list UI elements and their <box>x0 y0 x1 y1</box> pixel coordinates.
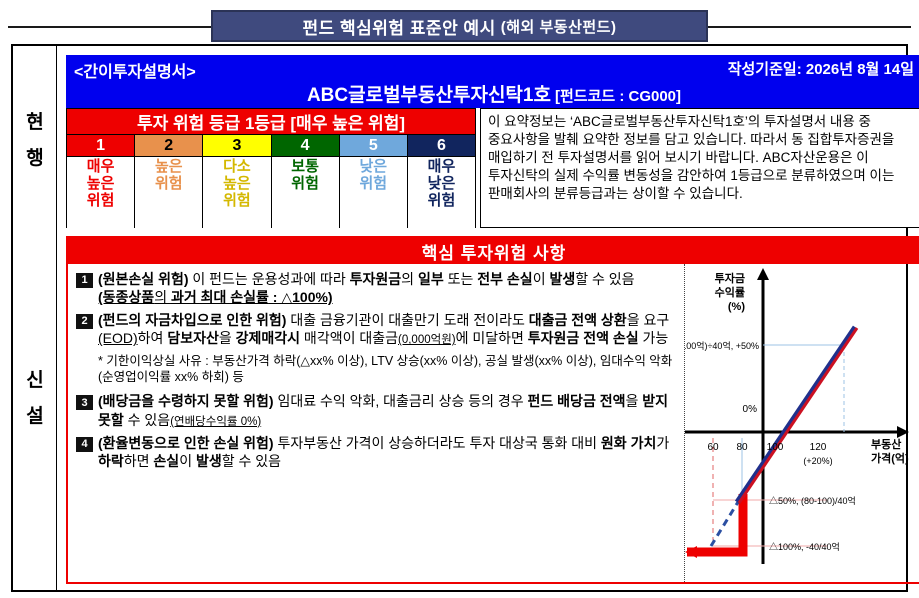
risk-text-run: 할 수 있음 <box>222 453 281 469</box>
payoff-chart-svg: 투자금 수익률 (%) 부동산 가격(억) 0% 60 80 100 120 <box>685 264 919 580</box>
fund-code: [펀드코드 : CG000] <box>555 88 681 105</box>
risk-text-run: 의 <box>154 289 171 305</box>
risk-item-text: (환율변동으로 인한 손실 위험) 투자부동산 가격이 상승하더라도 투자 대상… <box>98 434 678 471</box>
risk-grade-column-4: 4보통위험 <box>272 135 340 228</box>
gutter-label-new-1: 신 <box>13 366 57 396</box>
risk-text-run: 을 요구 <box>627 312 670 328</box>
risk-item-number: 1 <box>76 273 93 288</box>
chart-ylabel-line-1: 투자금 <box>715 271 745 285</box>
chart-xlabel-line-2: 가격(억) <box>871 451 909 465</box>
summary-text: 이 요약정보는 ‘ABC글로벌부동산투자신탁1호’의 투자설명서 내용 중 중요… <box>488 113 915 203</box>
chart-annotation-1: △50%, (80-100)/40억 <box>769 495 856 506</box>
risk-grade-label-line: 매우 <box>87 159 115 176</box>
payoff-chart: 투자금 수익률 (%) 부동산 가격(억) 0% 60 80 100 120 <box>685 264 919 582</box>
risk-text-run: 대출금 전액 상환 <box>529 312 627 328</box>
core-risk-box: 핵심 투자위험 사항 1(원본손실 위험) 이 펀드는 운용성과에 따라 투자원… <box>66 236 919 584</box>
risk-text-run: 투자원금 <box>350 271 402 287</box>
risk-text-run: 발생 <box>196 453 222 469</box>
risk-text-run: 에 미달하면 <box>456 330 528 346</box>
chart-series-dashed <box>711 502 738 546</box>
risk-grade-number-6: 6 <box>408 135 475 157</box>
risk-grade-label-line: 위험 <box>359 176 387 193</box>
risk-text-run: 가능 <box>639 330 669 346</box>
risk-text-run: 하여 <box>138 330 168 346</box>
risk-grade-label-line: 위험 <box>87 193 115 210</box>
risk-text-run: 강제매각시 <box>236 330 300 346</box>
risk-text-run: 이 펀드는 운용성과에 따라 <box>192 271 349 287</box>
risk-grade-label-line: 위험 <box>428 193 456 210</box>
risk-grade-column-2: 2높은위험 <box>135 135 203 228</box>
risk-item: 4(환율변동으로 인한 손실 위험) 투자부동산 가격이 상승하더라도 투자 대… <box>76 434 678 471</box>
chart-annotation-2: △100%, -40/40억 <box>769 541 840 552</box>
risk-grade-number-2: 2 <box>135 135 202 157</box>
risk-item-text: (펀드의 자금차입으로 인한 위험) 대출 금융기관이 대출만기 도래 전이라도… <box>98 311 678 349</box>
risk-text-run: (동종상품 <box>98 289 154 305</box>
risk-text-run: : △100%) <box>269 289 333 305</box>
fund-header: <간이투자설명서> 작성기준일: 2026년 8월 14일 ABC글로벌부동산투… <box>66 55 919 108</box>
risk-grade-label-5: 낮은위험 <box>340 157 407 228</box>
core-risk-title: 핵심 투자위험 사항 <box>68 238 919 264</box>
risk-grade-column-6: 6매우낮은위험 <box>408 135 475 228</box>
risk-grade-label-3: 다소높은위험 <box>203 157 270 228</box>
risk-text-run: 을 <box>219 330 236 346</box>
risk-text-run: 이 <box>179 453 196 469</box>
risk-text-run: 발생 <box>549 271 575 287</box>
risk-grade-column-5: 5낮은위험 <box>340 135 408 228</box>
risk-text-run: 대출 금융기관이 대출만기 도래 전이라도 <box>290 312 528 328</box>
risk-text-run: 매각액이 대출금 <box>300 330 398 346</box>
risk-items-group-2: 3(배당금을 수령하지 못할 위험) 임대료 수익 악화, 대출금리 상승 등의… <box>76 392 678 471</box>
risk-grade-label-line: 위험 <box>223 193 251 210</box>
top-banner-row: 펀드 핵심위험 표준안 예시 (해외 부동산펀드) <box>0 10 919 42</box>
risk-text-run: 또는 <box>444 271 478 287</box>
page-title-banner: 펀드 핵심위험 표준안 예시 (해외 부동산펀드) <box>211 10 708 42</box>
chart-y-axis-arrow <box>757 268 769 280</box>
risk-grade-label-line: 낮은 <box>428 176 456 193</box>
risk-item-text: (원본손실 위험) 이 펀드는 운용성과에 따라 투자원금의 일부 또는 전부 … <box>98 270 678 307</box>
chart-xtick-0: 60 <box>707 442 719 453</box>
risk-text-run: (EOD) <box>98 330 138 346</box>
chart-origin-label: 0% <box>743 404 758 415</box>
risk-text-run: (환율변동으로 인한 손실 위험) <box>98 435 277 451</box>
document-type-label: <간이투자설명서> <box>74 58 196 82</box>
risk-text-run: 임대료 수익 악화, 대출금리 상승 등의 경우 <box>277 393 527 409</box>
risk-grade-label-line: 위험 <box>291 176 319 193</box>
risk-text-run: 할 수 있음 <box>575 271 634 287</box>
gutter-label-new-2: 설 <box>13 402 57 432</box>
summary-panel: 이 요약정보는 ‘ABC글로벌부동산투자신탁1호’의 투자설명서 내용 중 중요… <box>480 108 919 228</box>
page-title-sub: (해외 부동산펀드) <box>501 16 617 37</box>
chart-x-axis-arrow <box>897 426 909 438</box>
risk-grade-table: 1매우높은위험2높은위험3다소높은위험4보통위험5낮은위험6매우낮은위험 <box>67 135 475 228</box>
risk-item: 2(펀드의 자금차입으로 인한 위험) 대출 금융기관이 대출만기 도래 전이라… <box>76 311 678 349</box>
chart-ylabel-line-3: (%) <box>728 301 745 313</box>
risk-grade-label-line: 보통 <box>291 159 319 176</box>
risk-grade-column-3: 3다소높은위험 <box>203 135 271 228</box>
risk-grade-number-3: 3 <box>203 135 270 157</box>
risk-grade-title: 투자 위험 등급 1등급 [매우 높은 위험] <box>67 109 475 135</box>
risk-grade-number-5: 5 <box>340 135 407 157</box>
risk-text-run: 의 <box>401 271 418 287</box>
core-risk-body: 1(원본손실 위험) 이 펀드는 운용성과에 따라 투자원금의 일부 또는 전부… <box>68 264 919 582</box>
chart-xtick-1: 80 <box>736 442 748 453</box>
risk-grade-label-line: 매우 <box>428 159 456 176</box>
risk-text-run: 전부 손실 <box>477 271 532 287</box>
chart-loss-bracket <box>687 494 743 552</box>
page-title-main: 펀드 핵심위험 표준안 예시 <box>303 14 496 39</box>
risk-footnote: * 기한이익상실 사유 : 부동산가격 하락(△xx% 이상), LTV 상승(… <box>98 353 678 387</box>
risk-item-number: 2 <box>76 314 93 329</box>
risk-text-run: 수 있음 <box>124 412 170 428</box>
risk-text-run: 가 <box>656 435 669 451</box>
risk-grade-label-6: 매우낮은위험 <box>408 157 475 228</box>
risk-grade-label-line: 위험 <box>155 176 183 193</box>
risk-item-text: (배당금을 수령하지 못할 위험) 임대료 수익 악화, 대출금리 상승 등의 … <box>98 392 678 430</box>
risk-grade-label-2: 높은위험 <box>135 157 202 228</box>
section-gutter: 현 행 신 설 <box>13 46 57 590</box>
gutter-label-current-2: 행 <box>13 144 57 174</box>
fund-name-row: ABC글로벌부동산투자신탁1호[펀드코드 : CG000] <box>66 80 919 107</box>
core-risk-list: 1(원본손실 위험) 이 펀드는 운용성과에 따라 투자원금의 일부 또는 전부… <box>68 264 685 582</box>
risk-text-run: (연배당수익률 0%) <box>170 416 261 428</box>
risk-grade-column-1: 1매우높은위험 <box>67 135 135 228</box>
risk-text-run: 원화 가치 <box>601 435 656 451</box>
risk-grade-number-4: 4 <box>272 135 339 157</box>
chart-xtick-3: 120 <box>810 442 827 453</box>
risk-text-run: 펀드 배당금 전액 <box>528 393 626 409</box>
banner-rule-left <box>8 26 211 28</box>
risk-text-run: 일부 <box>418 271 444 287</box>
chart-xlabel-line-1: 부동산 <box>871 437 901 451</box>
risk-grade-label-4: 보통위험 <box>272 157 339 228</box>
risk-grade-label-line: 다소 <box>223 159 251 176</box>
risk-text-run: 과거 최대 손실률 <box>171 289 269 305</box>
risk-items-group-1: 1(원본손실 위험) 이 펀드는 운용성과에 따라 투자원금의 일부 또는 전부… <box>76 270 678 349</box>
risk-grade-label-line: 높은 <box>155 159 183 176</box>
risk-text-run: (0,000억원) <box>398 334 456 346</box>
risk-grade-number-1: 1 <box>67 135 134 157</box>
fund-name: ABC글로벌부동산투자신탁1호 <box>307 85 551 106</box>
risk-text-run: 을 <box>625 393 642 409</box>
risk-grade-label-line: 높은 <box>87 176 115 193</box>
gutter-label-current-1: 현 <box>13 108 57 138</box>
risk-text-run: (배당금을 수령하지 못할 위험) <box>98 393 277 409</box>
risk-text-run: (펀드의 자금차입으로 인한 위험) <box>98 312 290 328</box>
risk-text-run: 하락 <box>98 453 124 469</box>
risk-grade-label-line: 낮은 <box>359 159 387 176</box>
risk-text-run: 손실 <box>153 453 179 469</box>
risk-text-run: 하면 <box>124 453 154 469</box>
risk-grade-block: 투자 위험 등급 1등급 [매우 높은 위험] 1매우높은위험2높은위험3다소높… <box>66 108 476 228</box>
risk-item-number: 3 <box>76 395 93 410</box>
risk-item-number: 4 <box>76 437 93 452</box>
chart-series-red <box>739 328 857 503</box>
chart-xtick-3-note: (+20%) <box>803 456 832 466</box>
risk-text-run: 투자부동산 가격이 상승하더라도 투자 대상국 통화 대비 <box>277 435 600 451</box>
risk-item: 1(원본손실 위험) 이 펀드는 운용성과에 따라 투자원금의 일부 또는 전부… <box>76 270 678 307</box>
risk-text-run: 이 <box>533 271 550 287</box>
document-content: <간이투자설명서> 작성기준일: 2026년 8월 14일 ABC글로벌부동산투… <box>57 46 906 590</box>
chart-xtick-2: 100 <box>767 442 784 453</box>
risk-text-run: 투자원금 전액 손실 <box>528 330 639 346</box>
risk-text-run: 담보자산 <box>167 330 219 346</box>
banner-rule-right <box>708 26 911 28</box>
risk-grade-label-line: 높은 <box>223 176 251 193</box>
risk-item: 3(배당금을 수령하지 못할 위험) 임대료 수익 악화, 대출금리 상승 등의… <box>76 392 678 430</box>
chart-ylabel-line-2: 수익률 <box>715 286 745 299</box>
document-date-label: 작성기준일: 2026년 8월 14일 <box>728 58 914 79</box>
risk-grade-label-1: 매우높은위험 <box>67 157 134 228</box>
chart-annotation-0: (120-100억)÷40억, +50% <box>685 340 759 351</box>
document-frame: 현 행 신 설 <간이투자설명서> 작성기준일: 2026년 8월 14일 AB… <box>11 44 908 592</box>
risk-text-run: (원본손실 위험) <box>98 271 192 287</box>
